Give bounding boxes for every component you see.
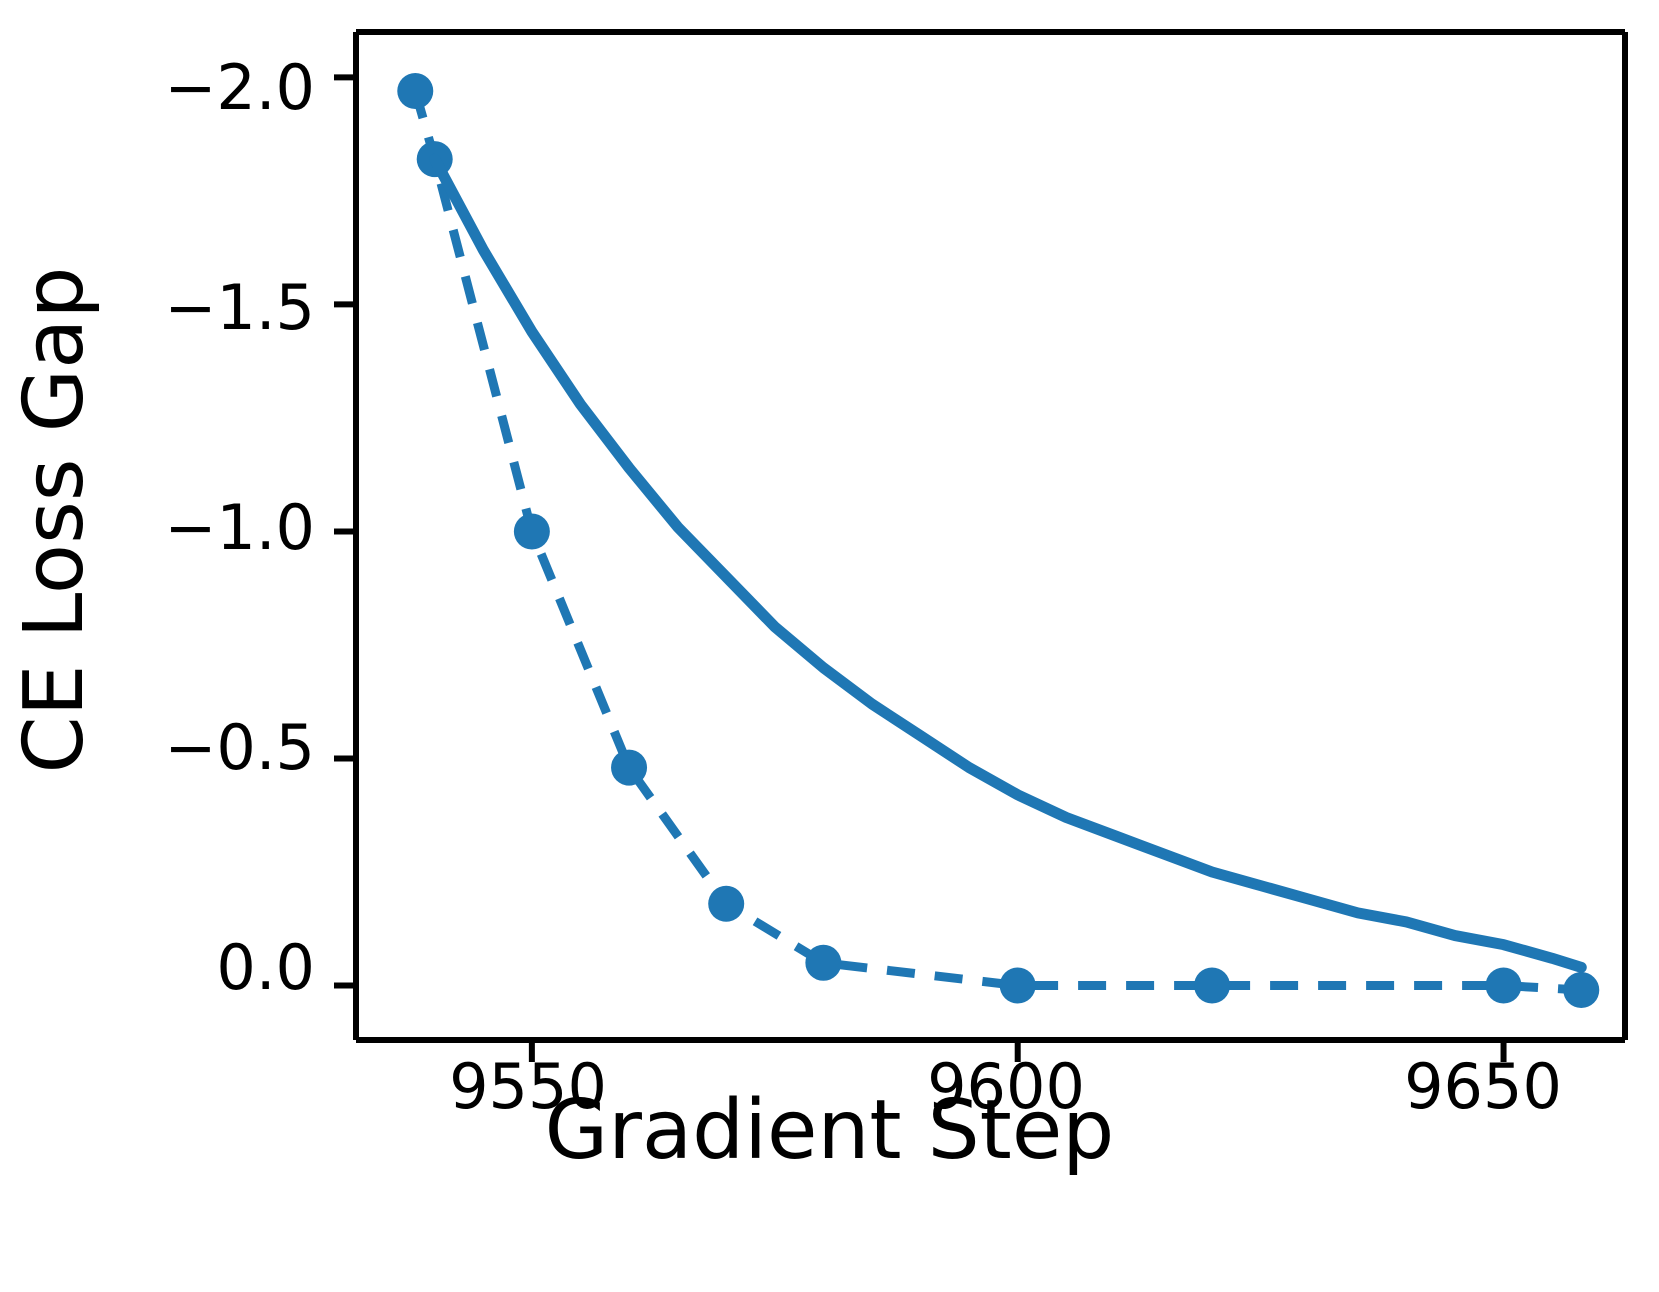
data-point-marker: [708, 886, 744, 922]
series-line-fit: [435, 159, 1582, 967]
x-axis-title: Gradient Step: [0, 1090, 1659, 1172]
y-axis-title: CE Loss Gap: [14, 0, 96, 1040]
data-point-marker: [1194, 968, 1230, 1004]
data-point-marker: [805, 945, 841, 981]
series-line-measured: [415, 91, 1581, 990]
figure-canvas: −2.0 −1.5 −1.0 −0.5 0.0 9550 9600 9650 G…: [0, 0, 1659, 1292]
data-point-marker: [397, 73, 433, 109]
data-point-marker: [611, 750, 647, 786]
data-point-marker: [1563, 972, 1599, 1008]
series-group: [397, 73, 1599, 1008]
data-point-marker: [514, 513, 550, 549]
data-point-marker: [1486, 968, 1522, 1004]
data-point-marker: [1000, 968, 1036, 1004]
